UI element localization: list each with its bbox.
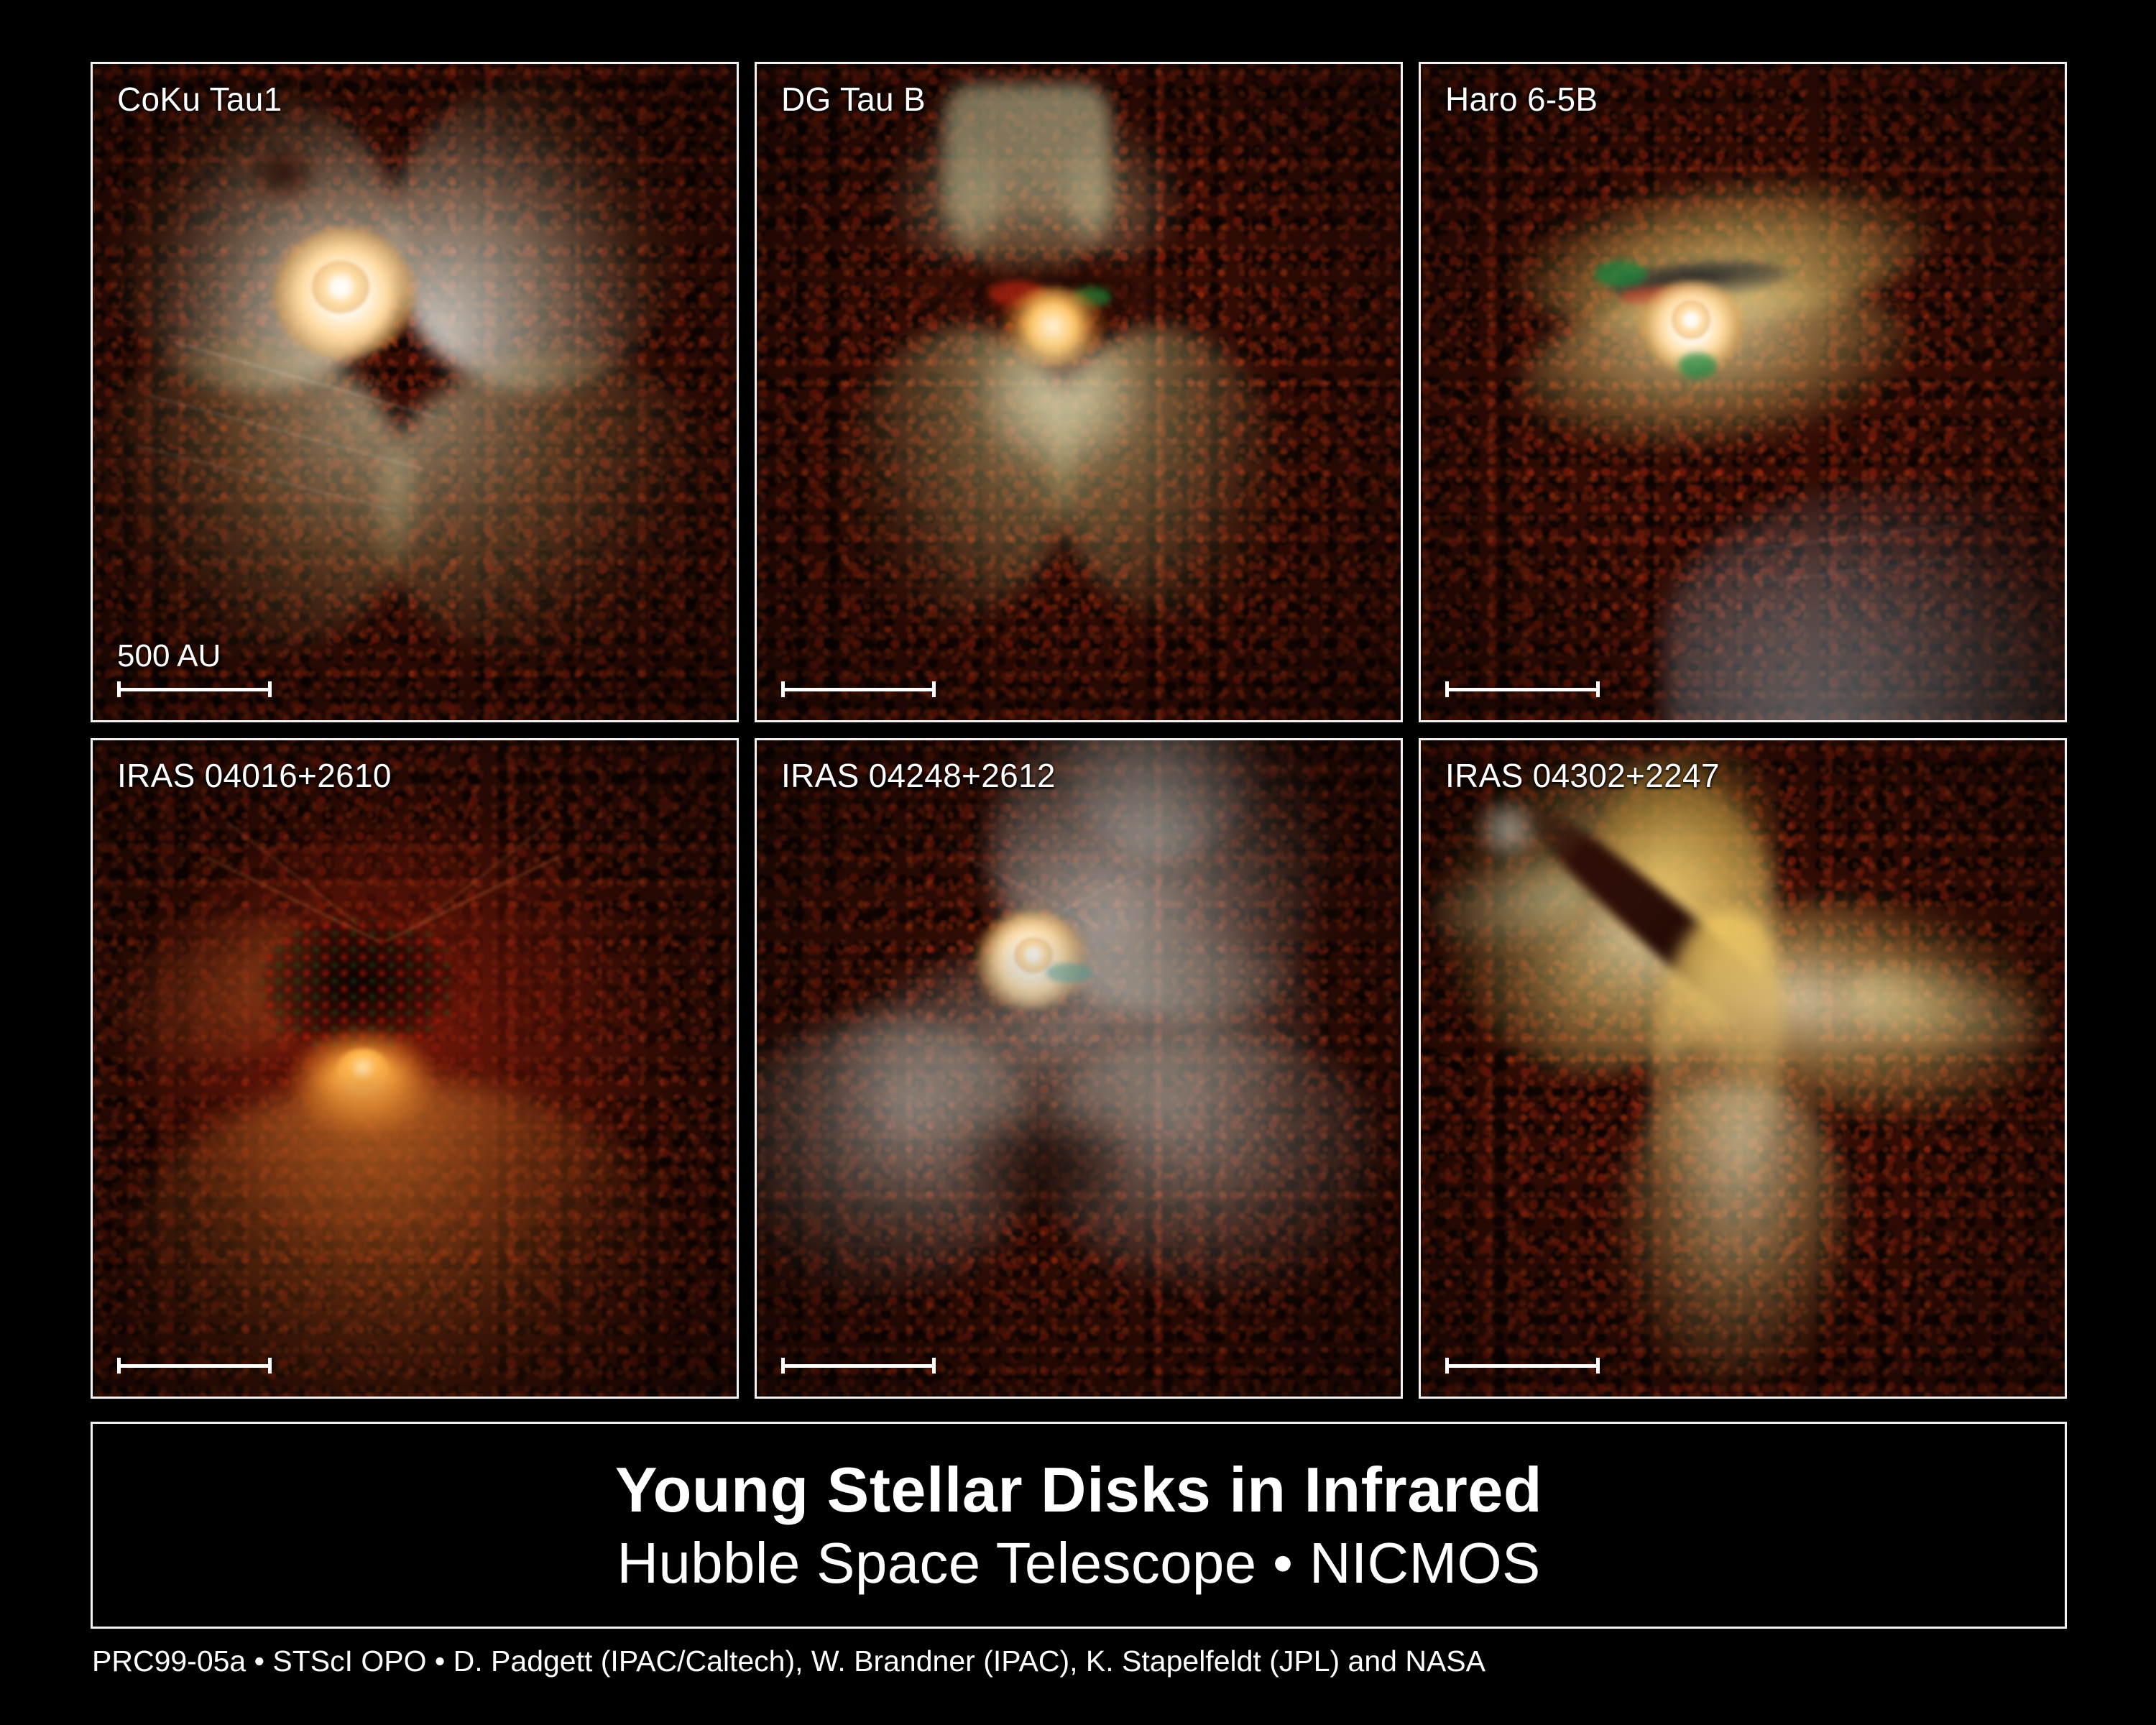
panel-vignette: [93, 64, 737, 720]
panel-label: IRAS 04302+2247: [1445, 756, 1720, 795]
scale-bar: [781, 681, 936, 697]
scale-indicator: [1445, 1358, 1600, 1374]
panel-vignette: [1421, 64, 2065, 720]
scale-label: 500 AU: [117, 638, 272, 674]
panel-label: DG Tau B: [781, 80, 926, 119]
panel-vignette: [1421, 740, 2065, 1397]
scale-indicator: [781, 1358, 936, 1374]
panel-label: IRAS 04016+2610: [117, 756, 392, 795]
scale-bar-cap-right: [1596, 681, 1600, 697]
scale-bar-cap-right: [268, 681, 272, 697]
image-panel-iras-04016-2610[interactable]: IRAS 04016+2610: [91, 738, 739, 1399]
scale-bar-line: [781, 688, 936, 691]
scale-bar-cap-left: [117, 1358, 121, 1374]
scale-bar-cap-left: [1445, 1358, 1449, 1374]
scale-bar-line: [1445, 688, 1600, 691]
scale-bar-cap-right: [268, 1358, 272, 1374]
scale-bar: [1445, 681, 1600, 697]
image-panel-haro-6-5b[interactable]: Haro 6-5B: [1419, 62, 2067, 722]
scale-bar-cap-left: [117, 681, 121, 697]
scale-bar-cap-left: [781, 1358, 785, 1374]
panel-vignette: [93, 740, 737, 1397]
panel-label: CoKu Tau1: [117, 80, 282, 119]
scale-bar-cap-left: [781, 681, 785, 697]
scale-bar-cap-left: [1445, 681, 1449, 697]
sky-background: [1421, 64, 2065, 720]
poster-subtitle: Hubble Space Telescope • NICMOS: [617, 1534, 1540, 1593]
scale-bar: [1445, 1358, 1600, 1374]
panel-vignette: [757, 740, 1401, 1397]
poster-root: CoKu Tau1 500 AU: [0, 0, 2156, 1725]
scale-indicator: [781, 681, 936, 697]
scale-bar-line: [1445, 1364, 1600, 1368]
image-panel-dg-tau-b[interactable]: DG Tau B: [755, 62, 1403, 722]
panel-vignette: [757, 64, 1401, 720]
scale-indicator: 500 AU: [117, 638, 272, 697]
scale-bar-line: [117, 688, 272, 691]
scale-bar-cap-right: [932, 681, 936, 697]
image-panel-coku-tau-1[interactable]: CoKu Tau1 500 AU: [91, 62, 739, 722]
image-panel-grid: CoKu Tau1 500 AU: [91, 62, 2067, 1399]
poster-title: Young Stellar Disks in Infrared: [615, 1458, 1542, 1522]
image-panel-iras-04302-2247[interactable]: IRAS 04302+2247: [1419, 738, 2067, 1399]
image-panel-iras-04248-2612[interactable]: IRAS 04248+2612: [755, 738, 1403, 1399]
sky-background: [1421, 740, 2065, 1397]
panel-label: IRAS 04248+2612: [781, 756, 1056, 795]
sky-background: [757, 64, 1401, 720]
scale-bar-cap-right: [932, 1358, 936, 1374]
scale-bar-line: [781, 1364, 936, 1368]
title-block: Young Stellar Disks in Infrared Hubble S…: [91, 1422, 2067, 1629]
scale-indicator: [117, 1358, 272, 1374]
credit-line: PRC99-05a • STScI OPO • D. Padgett (IPAC…: [92, 1644, 1485, 1678]
scale-bar: [117, 1358, 272, 1374]
sky-background: [93, 64, 737, 720]
scale-bar-line: [117, 1364, 272, 1368]
sky-background: [93, 740, 737, 1397]
sky-background: [757, 740, 1401, 1397]
scale-bar: [781, 1358, 936, 1374]
panel-label: Haro 6-5B: [1445, 80, 1598, 119]
scale-indicator: [1445, 681, 1600, 697]
scale-bar: [117, 681, 272, 697]
scale-bar-cap-right: [1596, 1358, 1600, 1374]
